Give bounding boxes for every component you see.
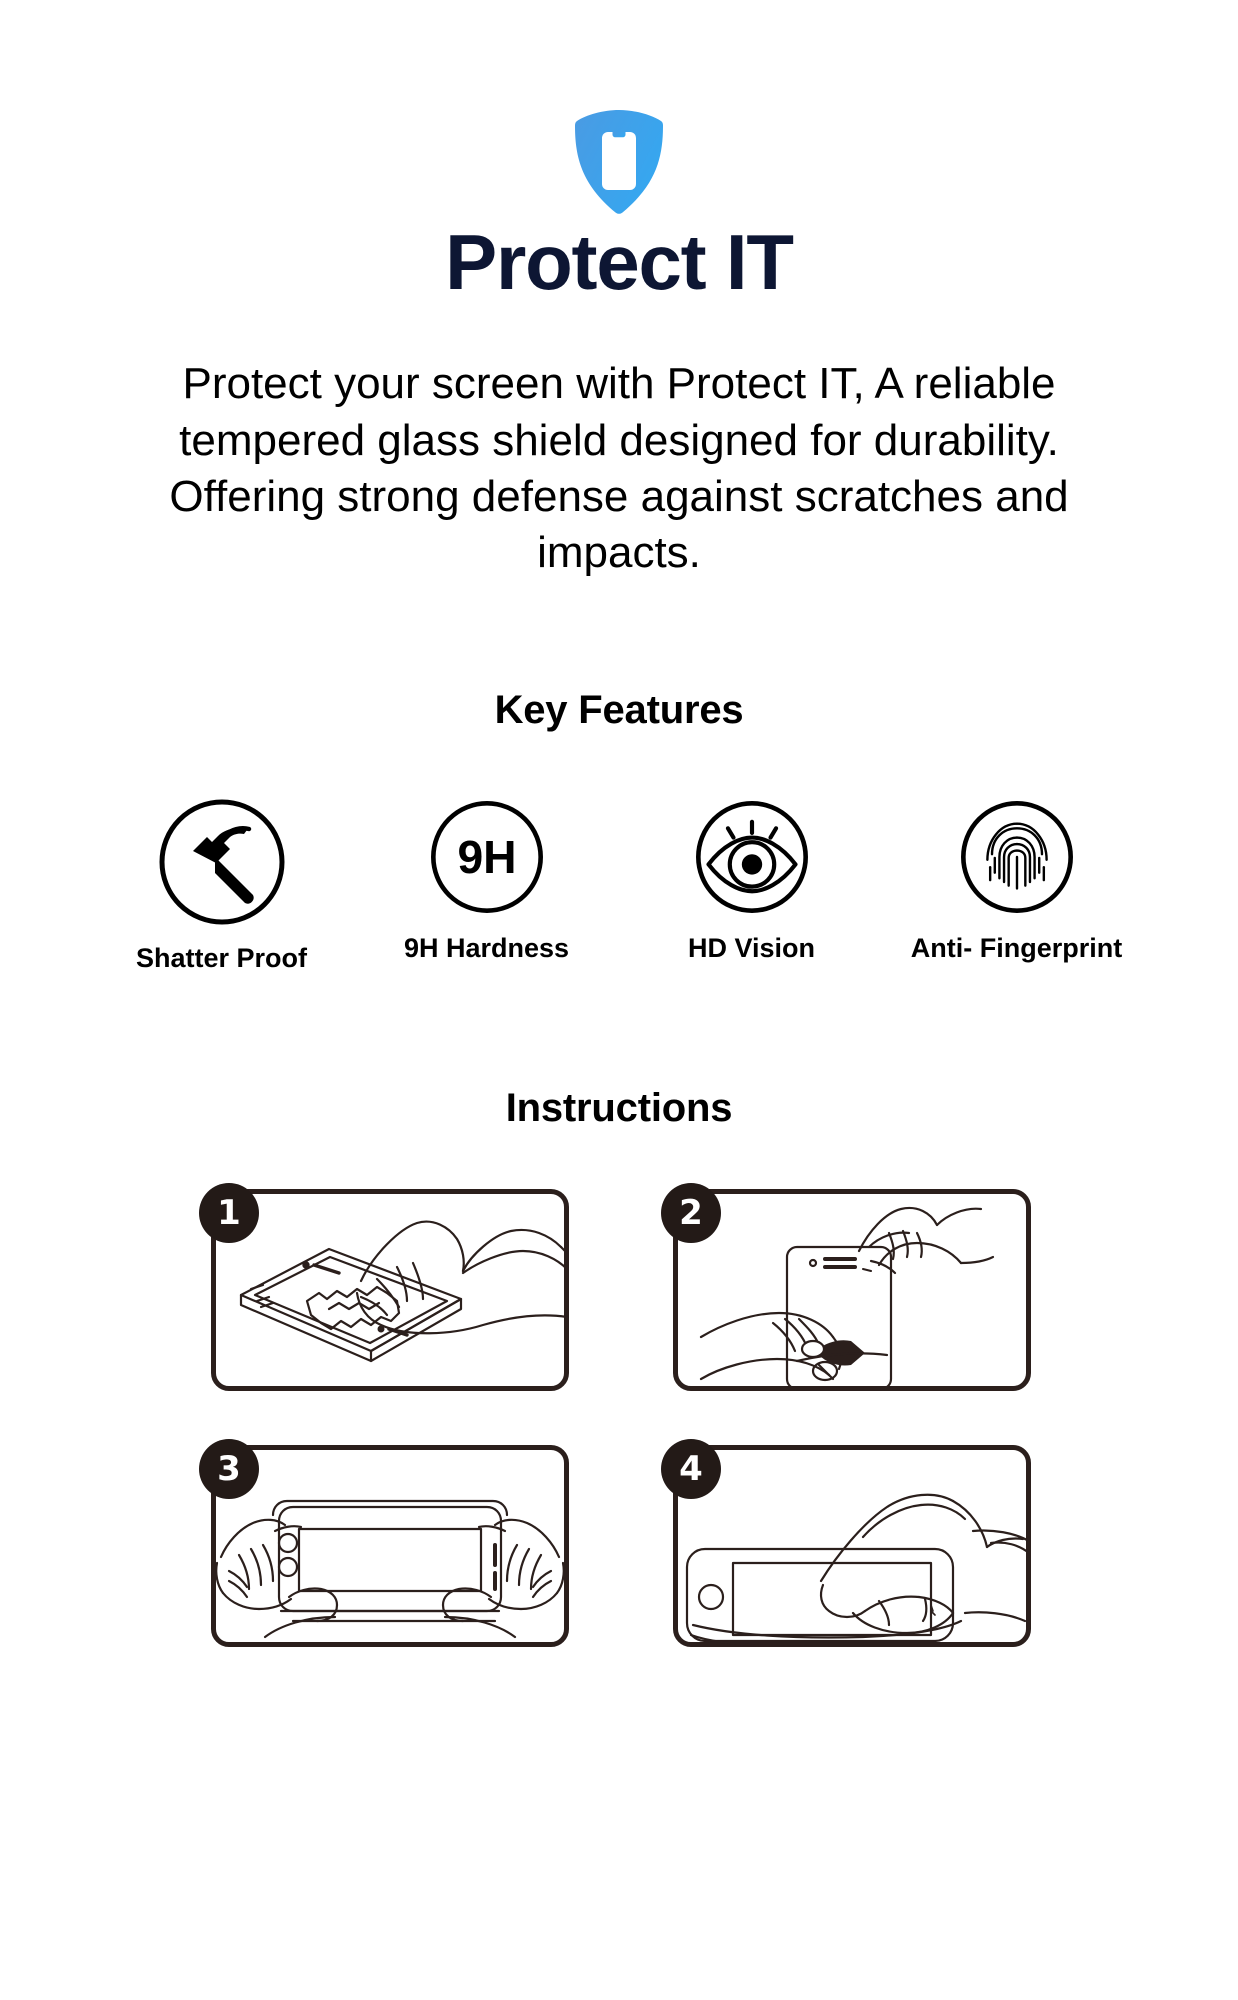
eye-icon [690,795,814,919]
instructions-grid: 1 [199,1183,1039,1647]
feature-label: Shatter Proof [136,943,307,974]
9h-hardness-icon: 9H [425,795,549,919]
product-description: Protect your screen with Protect IT, A r… [119,356,1119,581]
instructions-heading: Instructions [506,1086,733,1131]
instruction-step-1: 1 [199,1183,569,1391]
step-number-badge: 4 [661,1439,721,1499]
product-info-page: Protect IT Protect your screen with Prot… [0,0,1238,2000]
feature-hd-vision: HD Vision [619,795,884,964]
instruction-step-4: 4 [661,1439,1031,1647]
feature-label: 9H Hardness [404,933,569,964]
feature-anti-fingerprint: Anti- Fingerprint [884,795,1149,964]
instruction-step-3: 3 [199,1439,569,1647]
step-number-badge: 1 [199,1183,259,1243]
key-features-list: Shatter Proof 9H 9H Hardness [89,795,1149,974]
instruction-step-2: 2 [661,1183,1031,1391]
step-number-badge: 3 [199,1439,259,1499]
feature-9h-hardness: 9H 9H Hardness [354,795,619,964]
feature-label: Anti- Fingerprint [911,933,1122,964]
page-title: Protect IT [445,224,793,300]
brand-header: Protect IT [445,108,793,300]
feature-shatter-proof: Shatter Proof [89,795,354,974]
hammer-icon [155,795,289,929]
fingerprint-icon [955,795,1079,919]
shield-phone-icon [573,108,665,216]
feature-label: HD Vision [688,933,815,964]
svg-text:9H: 9H [457,831,516,883]
key-features-heading: Key Features [495,688,744,733]
step-number-badge: 2 [661,1183,721,1243]
